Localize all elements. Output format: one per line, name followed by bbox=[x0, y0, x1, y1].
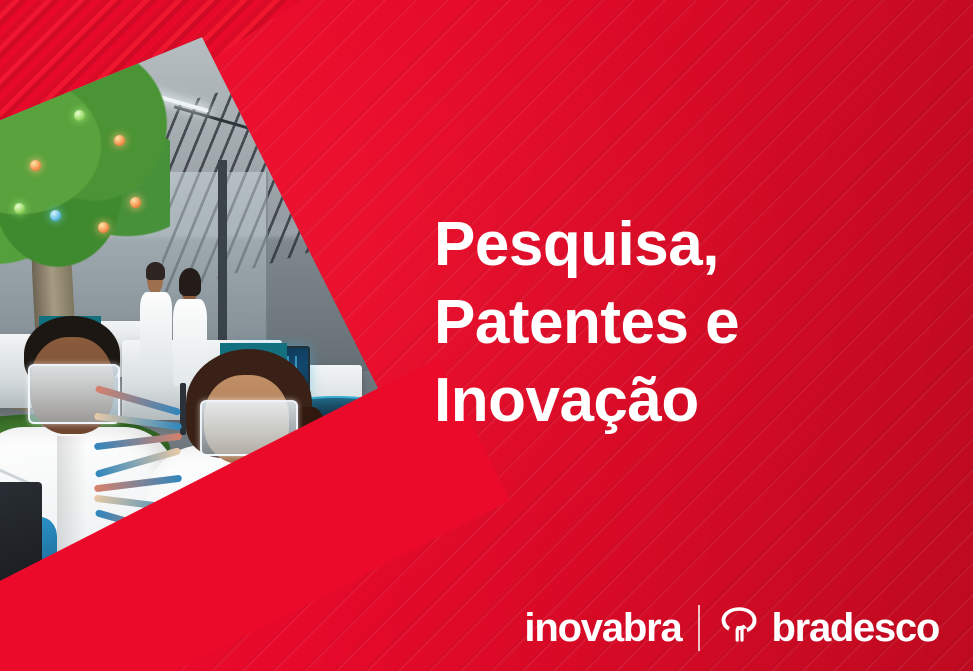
headline-line-3: Inovação bbox=[434, 362, 914, 440]
hair bbox=[179, 268, 201, 296]
tree-fruit-icon bbox=[30, 160, 41, 171]
tree-fruit-icon bbox=[98, 222, 109, 233]
headline-line-2: Patentes e bbox=[434, 284, 914, 362]
inovabra-logo[interactable]: inovabra bbox=[524, 608, 681, 648]
hair bbox=[146, 262, 165, 280]
tree-arch-icon bbox=[716, 604, 762, 651]
page-title: Pesquisa, Patentes e Inovação bbox=[434, 206, 914, 440]
bradesco-logo[interactable]: bradesco bbox=[716, 604, 939, 651]
tree-fruit-icon bbox=[50, 210, 61, 221]
headline-line-1: Pesquisa, bbox=[434, 206, 914, 284]
banner-pesquisa-patentes-inovacao: Pesquisa, Patentes e Inovação inovabra b… bbox=[0, 0, 973, 671]
bradesco-wordmark: bradesco bbox=[772, 608, 939, 648]
logo-lockup: inovabra bradesco bbox=[524, 604, 939, 651]
logo-divider bbox=[698, 605, 700, 651]
